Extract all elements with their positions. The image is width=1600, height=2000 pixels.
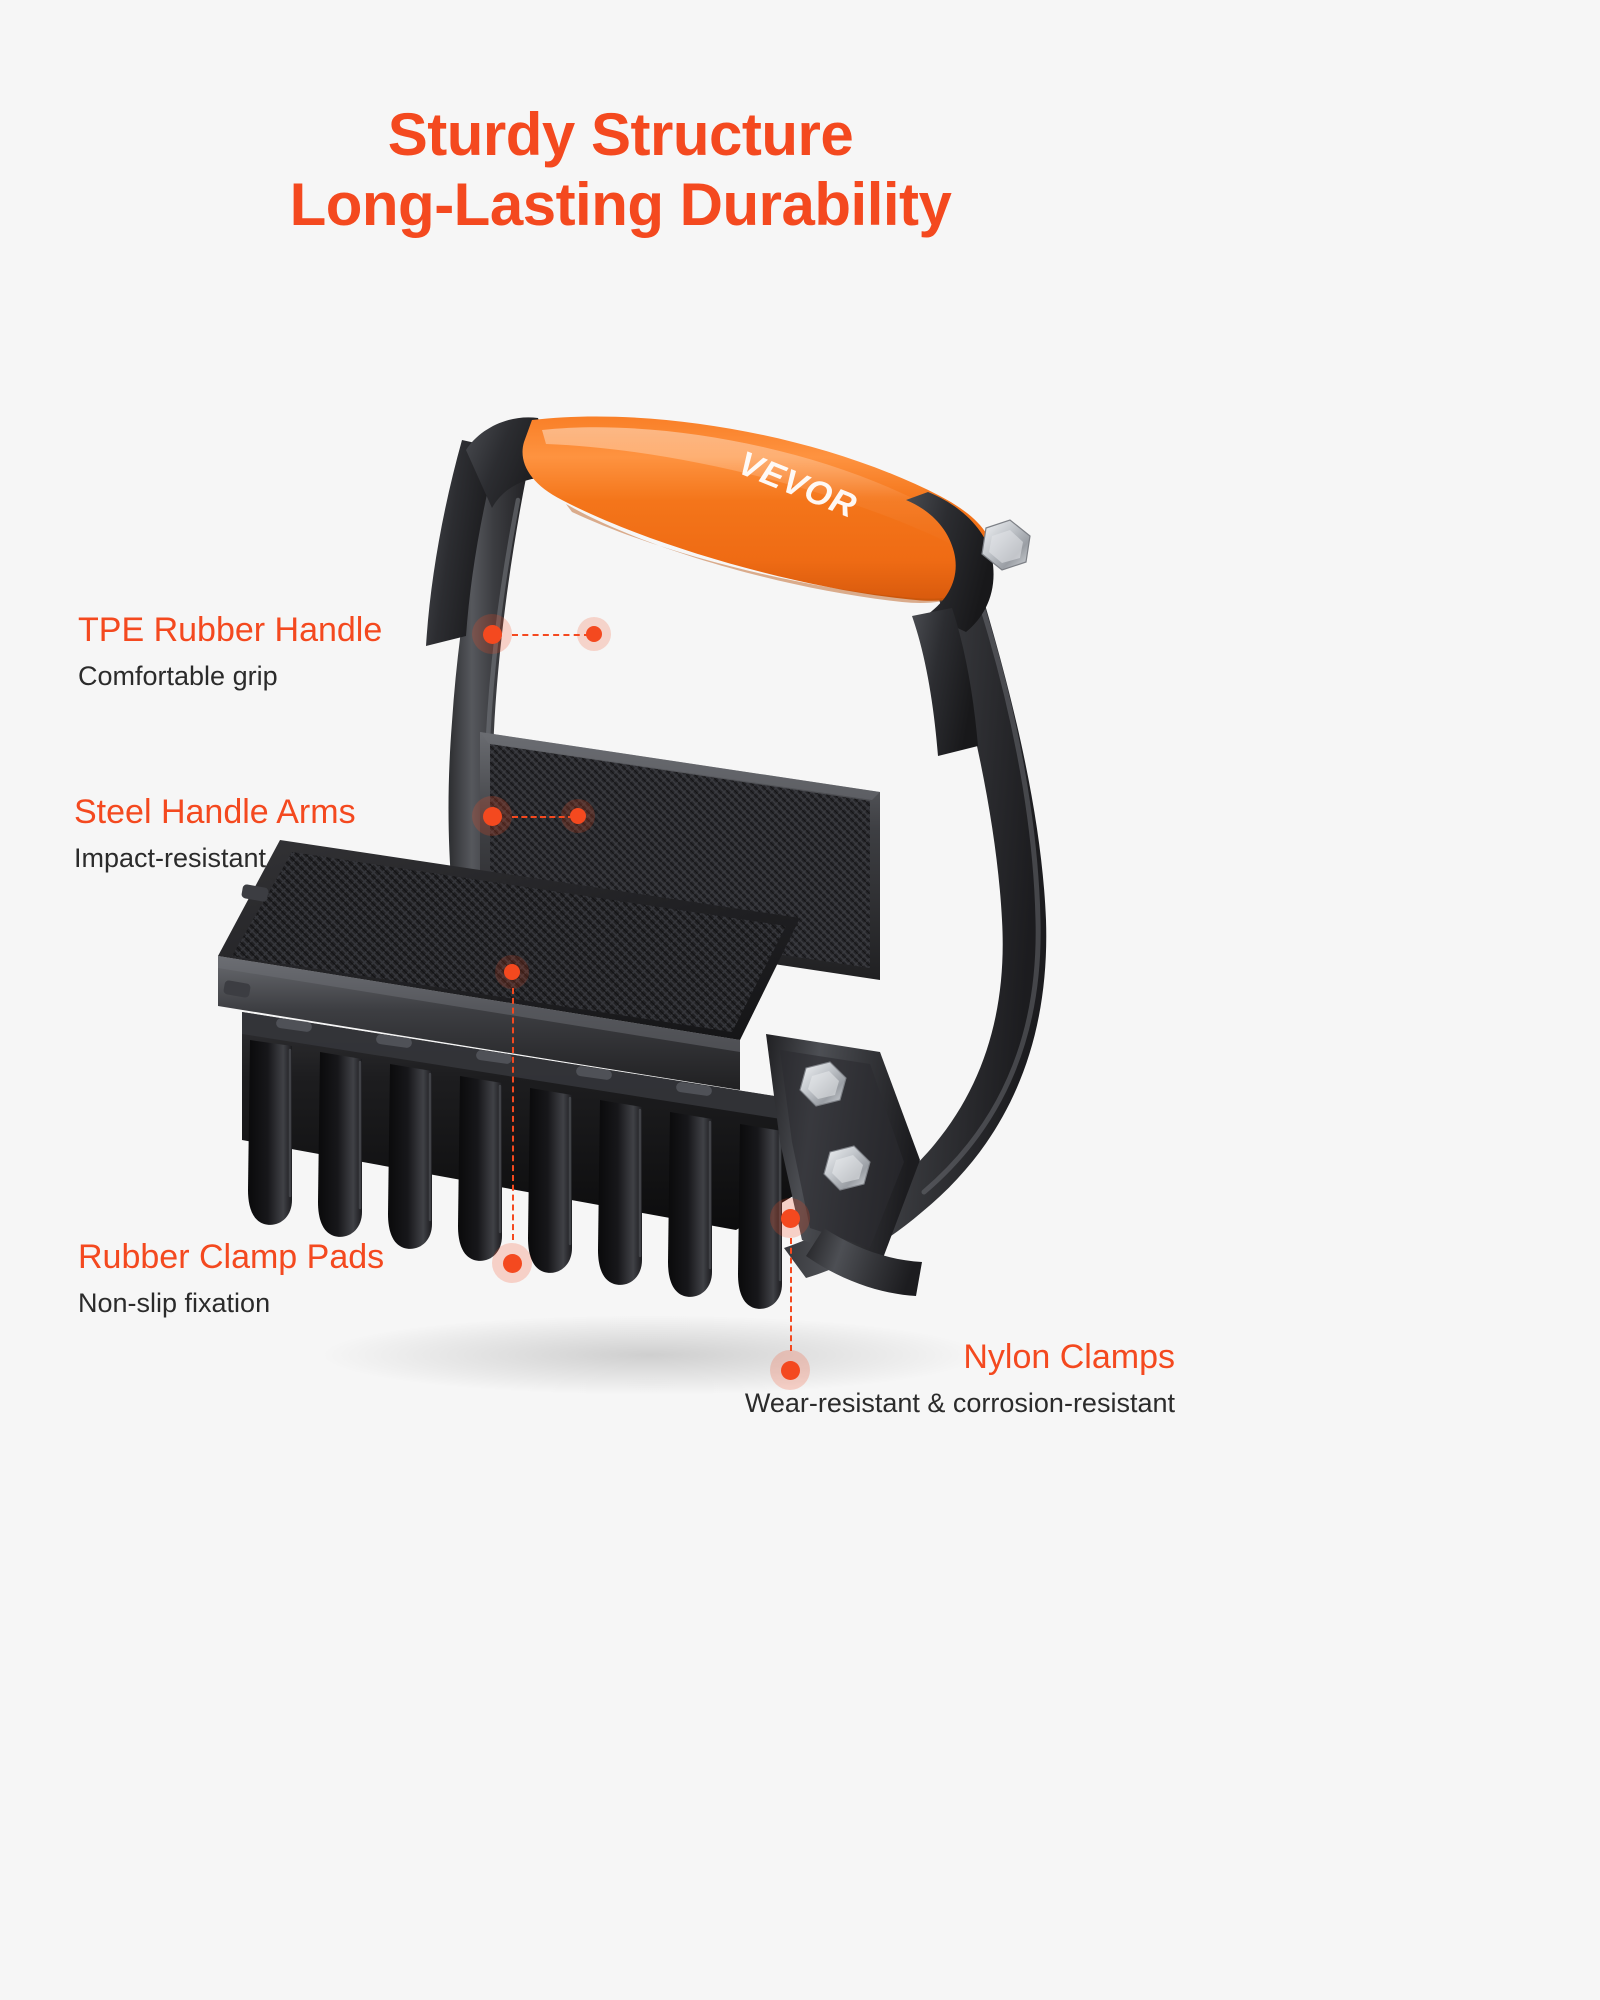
callout-sub-tpe: Comfortable grip (78, 662, 478, 692)
marker-dot-steel-label[interactable] (472, 796, 512, 836)
callout-headline-tpe: TPE Rubber Handle (78, 613, 478, 649)
marker-dot-tpe-target[interactable] (577, 617, 611, 651)
callout-sub-nylon: Wear-resistant & corrosion-resistant (660, 1389, 1175, 1419)
marker-dot-nylon-target[interactable] (770, 1198, 810, 1238)
marker-dot-steel-target[interactable] (561, 799, 595, 833)
connector-pads (512, 988, 514, 1240)
callout-tpe-rubber-handle: TPE Rubber Handle Comfortable grip (78, 613, 478, 691)
callout-headline-nylon: Nylon Clamps (660, 1340, 1175, 1376)
marker-dot-pads-label[interactable] (492, 1243, 532, 1283)
marker-dot-tpe-label[interactable] (472, 614, 512, 654)
infographic-page: Sturdy Structure Long-Lasting Durability (0, 0, 1241, 1600)
callout-steel-handle-arms: Steel Handle Arms Impact-resistant (74, 795, 474, 873)
callout-rubber-clamp-pads: Rubber Clamp Pads Non-slip fixation (78, 1240, 498, 1318)
title-line-1: Sturdy Structure (0, 100, 1241, 170)
callout-sub-pads: Non-slip fixation (78, 1289, 498, 1319)
connector-nylon (790, 1238, 792, 1351)
callout-headline-steel: Steel Handle Arms (74, 795, 474, 831)
marker-dot-nylon-label[interactable] (770, 1350, 810, 1390)
callout-nylon-clamps: Nylon Clamps Wear-resistant & corrosion-… (660, 1340, 1175, 1418)
callout-headline-pads: Rubber Clamp Pads (78, 1240, 498, 1276)
callout-sub-steel: Impact-resistant (74, 844, 474, 874)
page-title: Sturdy Structure Long-Lasting Durability (0, 100, 1241, 240)
marker-dot-pads-target[interactable] (495, 955, 529, 989)
title-line-2: Long-Lasting Durability (0, 170, 1241, 240)
